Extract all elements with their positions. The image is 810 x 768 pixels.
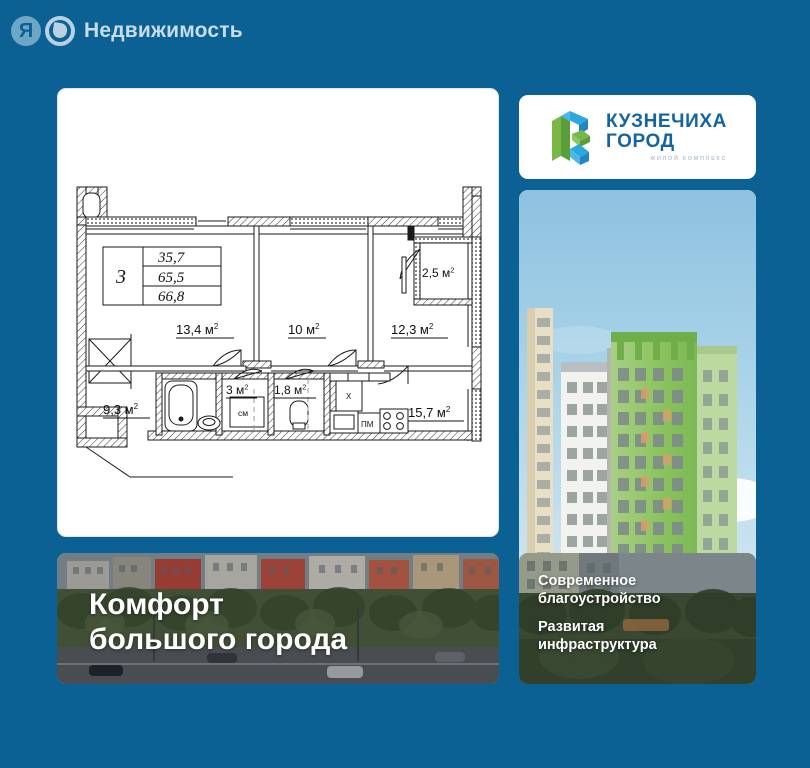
promo-headline-line-2: большого города <box>89 622 347 657</box>
svg-text:12,3 м2: 12,3 м2 <box>391 322 434 337</box>
svg-text:3 м2: 3 м2 <box>226 383 248 398</box>
feature-2-line-2: инфраструктура <box>538 637 661 655</box>
logo-subtitle: ЖИЛОЙ КОМПЛЕКС <box>650 156 727 162</box>
promo-headline-card[interactable]: Комфорт большого города <box>57 553 499 684</box>
promo-headline-line-1: Комфорт <box>89 587 347 622</box>
feature-1: Современное благоустройство <box>538 573 661 608</box>
svg-text:13,4 м2: 13,4 м2 <box>176 322 219 337</box>
label-dishwasher: ПМ <box>361 420 374 429</box>
svg-text:9,3 м2: 9,3 м2 <box>103 402 139 417</box>
yandex-realty-logo[interactable]: Я <box>11 16 75 46</box>
svg-text:15,7 м2: 15,7 м2 <box>408 405 451 420</box>
feature-2: Развитая инфраструктура <box>538 619 661 654</box>
floor-plan-card[interactable]: 3 35,7 65,5 66,8 13,4 м2 10 м2 <box>57 88 499 537</box>
label-room-3: 12,3 м2 <box>391 322 448 338</box>
area-total: 65,5 <box>158 270 185 286</box>
label-fridge: Х <box>346 392 352 401</box>
feature-1-line-1: Современное <box>538 573 661 591</box>
apartment-info-table: 3 35,7 65,5 66,8 <box>103 247 221 305</box>
area-total-balcony: 66,8 <box>158 289 185 305</box>
label-toilet: 1,8 м2 <box>274 383 316 399</box>
floor-plan-svg: 3 35,7 65,5 66,8 13,4 м2 10 м2 <box>58 89 499 537</box>
label-washing-machine: см <box>238 408 248 418</box>
yandex-ya-icon: Я <box>11 16 41 46</box>
svg-text:10 м2: 10 м2 <box>288 322 320 337</box>
label-bathroom: 3 м2 <box>226 383 257 399</box>
promo-features-card[interactable]: Современное благоустройство Развитая инф… <box>519 553 756 684</box>
building-render-image <box>519 190 756 574</box>
header-bar: Я Недвижимость <box>0 0 810 62</box>
realty-circle-icon <box>45 16 75 46</box>
developer-logo-card[interactable]: КУЗНЕЧИХА ГОРОД ЖИЛОЙ КОМПЛЕКС <box>519 95 756 179</box>
isometric-k-blocks-icon <box>548 109 595 165</box>
promo-features: Современное благоустройство Развитая инф… <box>538 573 661 655</box>
label-hall: 9,3 м2 <box>103 402 150 418</box>
developer-logo-text: КУЗНЕЧИХА ГОРОД ЖИЛОЙ КОМПЛЕКС <box>606 112 727 163</box>
floor-plan-drawing: 3 35,7 65,5 66,8 13,4 м2 10 м2 <box>58 89 498 536</box>
building-photo-card[interactable] <box>519 190 756 574</box>
feature-2-line-1: Развитая <box>538 619 661 637</box>
label-balcony: 2,5 м2 <box>422 266 454 281</box>
brand-label: Недвижимость <box>84 19 243 43</box>
promo-headline: Комфорт большого города <box>89 587 347 658</box>
svg-text:1,8 м2: 1,8 м2 <box>274 383 306 398</box>
feature-1-line-2: благоустройство <box>538 591 661 609</box>
label-room-1: 13,4 м2 <box>176 322 234 338</box>
label-kitchen: 15,7 м2 <box>408 405 464 421</box>
advertisement-banner: Я Недвижимость <box>0 0 810 768</box>
logo-line-2: ГОРОД <box>606 132 675 152</box>
area-living: 35,7 <box>157 250 186 266</box>
logo-line-1: КУЗНЕЧИХА <box>606 112 727 132</box>
svg-text:2,5 м2: 2,5 м2 <box>422 266 454 281</box>
rooms-count: 3 <box>115 266 126 288</box>
label-room-2: 10 м2 <box>288 322 326 338</box>
